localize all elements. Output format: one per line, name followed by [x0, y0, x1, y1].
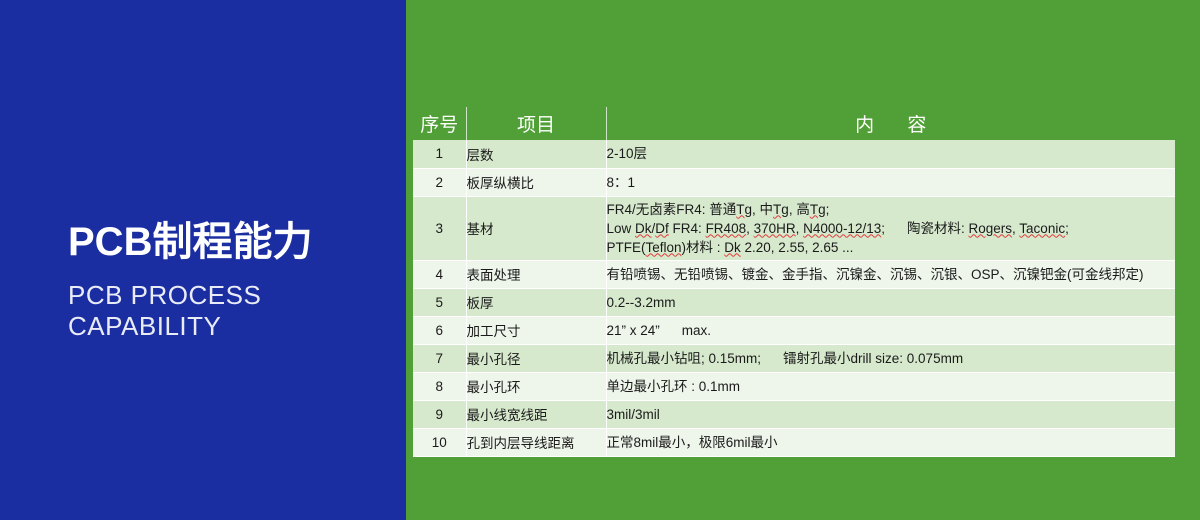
table-row: 1层数2-10层	[413, 140, 1175, 168]
cell-no: 8	[413, 372, 466, 400]
page-title-english: PCB PROCESS CAPABILITY	[68, 280, 398, 342]
table-header-row: 序号 项目 内 容	[413, 107, 1175, 140]
cell-content: 0.2--3.2mm	[606, 288, 1175, 316]
table-row: 10孔到内层导线距离正常8mil最小，极限6mil最小	[413, 428, 1175, 456]
page-title-english-line1: PCB PROCESS	[68, 280, 398, 311]
table-row: 5板厚0.2--3.2mm	[413, 288, 1175, 316]
cell-content: 有铅喷锡、无铅喷锡、镀金、金手指、沉镍金、沉锡、沉银、OSP、沉镍钯金(可金线邦…	[606, 260, 1175, 288]
cell-no: 10	[413, 428, 466, 456]
content-line: Low Dk/Df FR4: FR408, 370HR, N4000-12/13…	[607, 219, 1176, 238]
table-row: 2板厚纵横比8：1	[413, 168, 1175, 196]
spec-table-wrapper: 序号 项目 内 容 1层数2-10层2板厚纵横比8：13基材FR4/无卤素FR4…	[413, 107, 1175, 457]
cell-no: 4	[413, 260, 466, 288]
cell-content: 21” x 24”max.	[606, 316, 1175, 344]
content-line: 有铅喷锡、无铅喷锡、镀金、金手指、沉镍金、沉锡、沉银、OSP、沉镍钯金(可金线邦…	[607, 265, 1176, 284]
column-header-content: 内 容	[606, 107, 1175, 140]
cell-content: 2-10层	[606, 140, 1175, 168]
table-row: 3基材FR4/无卤素FR4: 普通Tg, 中Tg, 高Tg;Low Dk/Df …	[413, 196, 1175, 260]
table-body: 1层数2-10层2板厚纵横比8：13基材FR4/无卤素FR4: 普通Tg, 中T…	[413, 140, 1175, 456]
content-line: 正常8mil最小，极限6mil最小	[607, 433, 1176, 452]
cell-item: 最小孔环	[466, 372, 606, 400]
table-header: 序号 项目 内 容	[413, 107, 1175, 140]
cell-no: 1	[413, 140, 466, 168]
table-row: 4表面处理有铅喷锡、无铅喷锡、镀金、金手指、沉镍金、沉锡、沉银、OSP、沉镍钯金…	[413, 260, 1175, 288]
content-line: 2-10层	[607, 144, 1176, 163]
column-header-content-label: 内 容	[841, 115, 940, 136]
cell-content: 单边最小孔环 : 0.1mm	[606, 372, 1175, 400]
table-row: 7最小孔径机械孔最小钻咀; 0.15mm;镭射孔最小drill size: 0.…	[413, 344, 1175, 372]
cell-no: 6	[413, 316, 466, 344]
page-title-english-line2: CAPABILITY	[68, 311, 398, 342]
cell-item: 层数	[466, 140, 606, 168]
cell-content: 机械孔最小钻咀; 0.15mm;镭射孔最小drill size: 0.075mm	[606, 344, 1175, 372]
cell-item: 板厚纵横比	[466, 168, 606, 196]
cell-content: 8：1	[606, 168, 1175, 196]
cell-item: 板厚	[466, 288, 606, 316]
cell-no: 3	[413, 196, 466, 260]
content-line: 21” x 24”max.	[607, 321, 1176, 340]
cell-no: 2	[413, 168, 466, 196]
pcb-capability-table: 序号 项目 内 容 1层数2-10层2板厚纵横比8：13基材FR4/无卤素FR4…	[413, 107, 1175, 457]
slide-canvas: PCB制程能力 PCB PROCESS CAPABILITY 序号 项目 内 容…	[0, 0, 1200, 520]
title-block: PCB制程能力 PCB PROCESS CAPABILITY	[68, 218, 398, 342]
title-panel: PCB制程能力 PCB PROCESS CAPABILITY	[0, 0, 406, 520]
cell-item: 加工尺寸	[466, 316, 606, 344]
content-line: FR4/无卤素FR4: 普通Tg, 中Tg, 高Tg;	[607, 200, 1176, 219]
cell-no: 7	[413, 344, 466, 372]
cell-content: FR4/无卤素FR4: 普通Tg, 中Tg, 高Tg;Low Dk/Df FR4…	[606, 196, 1175, 260]
cell-content: 3mil/3mil	[606, 400, 1175, 428]
cell-item: 最小孔径	[466, 344, 606, 372]
cell-item: 基材	[466, 196, 606, 260]
cell-item: 表面处理	[466, 260, 606, 288]
cell-item: 最小线宽线距	[466, 400, 606, 428]
content-line: 单边最小孔环 : 0.1mm	[607, 377, 1176, 396]
content-line: 8：1	[607, 173, 1176, 192]
column-header-item: 项目	[466, 107, 606, 140]
content-line: 0.2--3.2mm	[607, 293, 1176, 312]
cell-content: 正常8mil最小，极限6mil最小	[606, 428, 1175, 456]
cell-no: 5	[413, 288, 466, 316]
content-line: 机械孔最小钻咀; 0.15mm;镭射孔最小drill size: 0.075mm	[607, 349, 1176, 368]
table-row: 9最小线宽线距3mil/3mil	[413, 400, 1175, 428]
column-header-no: 序号	[413, 107, 466, 140]
cell-no: 9	[413, 400, 466, 428]
content-line: 3mil/3mil	[607, 405, 1176, 424]
content-line: PTFE(Teflon)材料 : Dk 2.20, 2.55, 2.65 ...	[607, 238, 1176, 257]
table-row: 6加工尺寸21” x 24”max.	[413, 316, 1175, 344]
page-title-chinese: PCB制程能力	[68, 218, 398, 266]
table-row: 8最小孔环单边最小孔环 : 0.1mm	[413, 372, 1175, 400]
cell-item: 孔到内层导线距离	[466, 428, 606, 456]
